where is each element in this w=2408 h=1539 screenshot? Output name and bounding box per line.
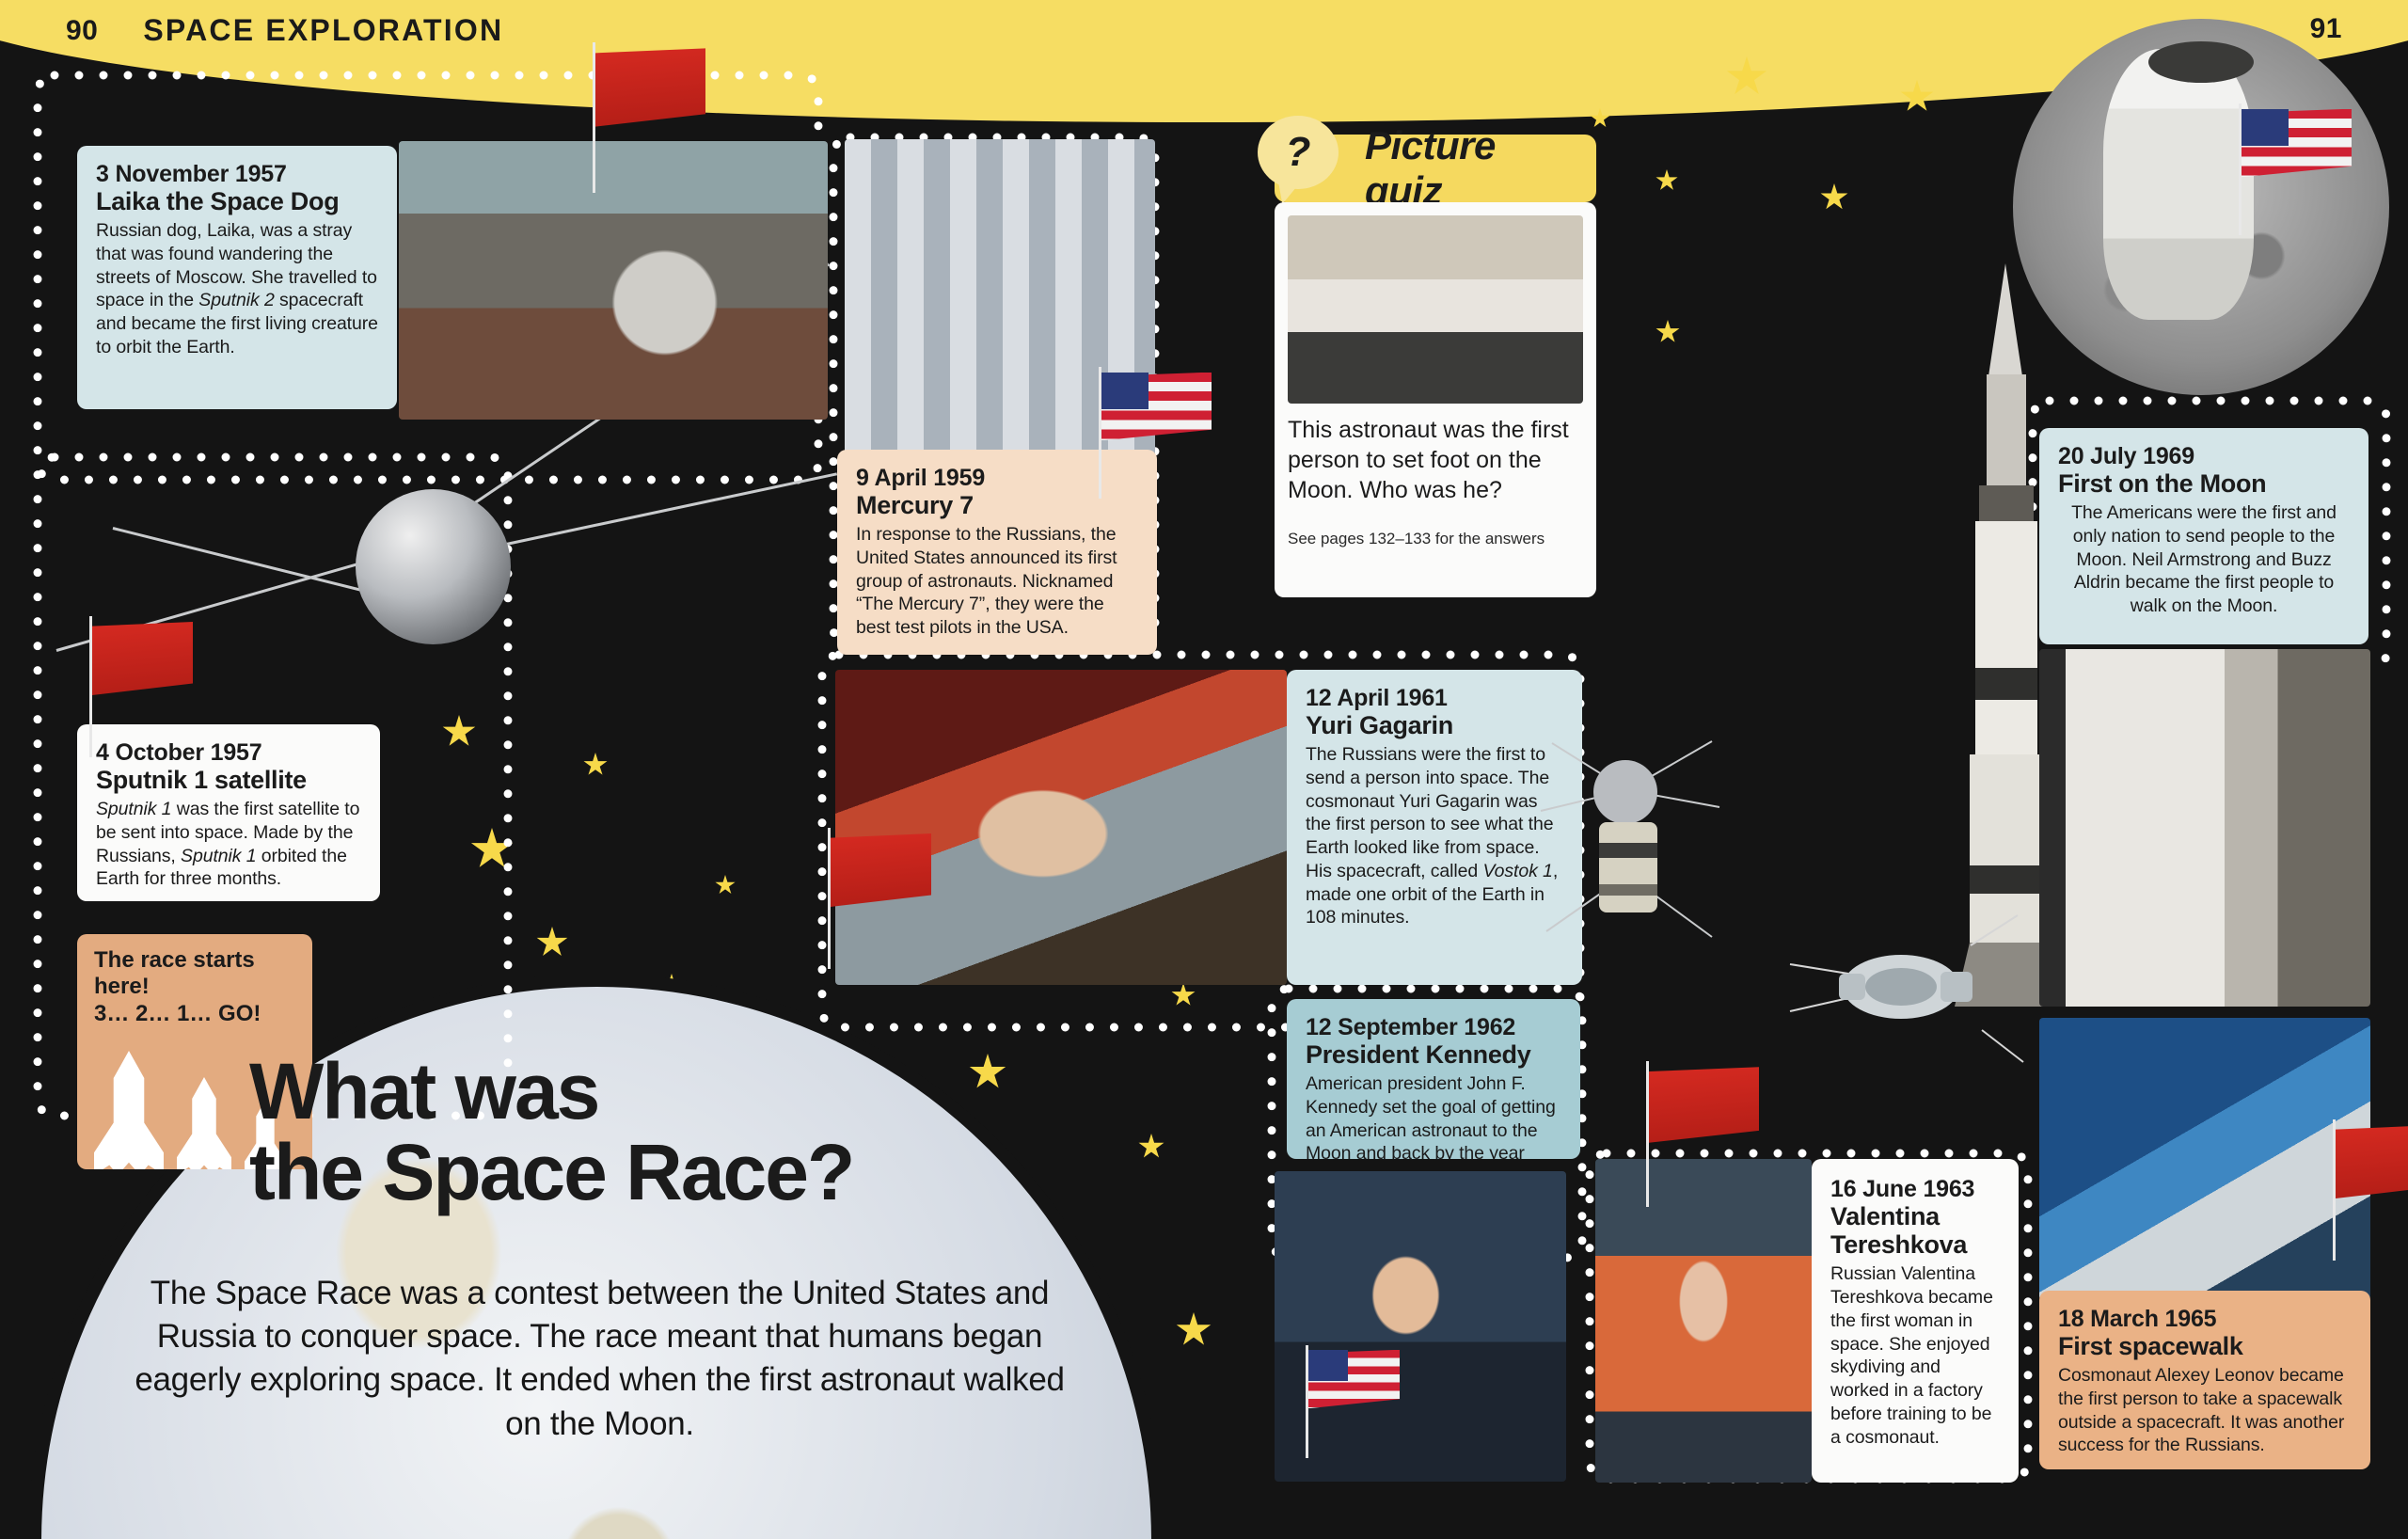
question-mark-glyph: ?: [1286, 129, 1311, 176]
flag-pole: [593, 42, 595, 193]
soviet-flag-cloth: [831, 833, 931, 907]
star-decoration: [969, 1054, 1006, 1091]
soviet-flag-cloth: [1649, 1067, 1759, 1143]
picture-quiz-title: Picture quiz: [1365, 123, 1576, 214]
astronaut-figure: [2103, 49, 2254, 320]
card-laika: 3 November 1957 Laika the Space Dog Russ…: [77, 146, 397, 409]
page-title-line-1: What was: [249, 1052, 853, 1133]
tereshkova-portrait-photo: [1595, 1159, 1812, 1483]
picture-quiz-card: This astronaut was the first person to s…: [1275, 202, 1596, 597]
us-flag-canton: [2242, 109, 2289, 146]
lead-paragraph: The Space Race was a contest between the…: [113, 1272, 1086, 1446]
card-body: Russian dog, Laika, was a stray that was…: [96, 219, 378, 359]
astronaut-visor: [2148, 41, 2254, 83]
rocket-icon: [94, 1051, 164, 1169]
launch-pad-photo: [2039, 649, 2370, 1007]
picture-quiz-question: This astronaut was the first person to s…: [1288, 415, 1583, 505]
card-date: 9 April 1959: [856, 465, 1138, 491]
soviet-flag-cloth: [92, 622, 193, 695]
star-decoration: [583, 753, 608, 777]
card-date: 12 April 1961: [1306, 685, 1563, 711]
card-date: 18 March 1965: [2058, 1306, 2352, 1332]
race-line-1: The race starts here!: [94, 947, 295, 1001]
card-title: Sputnik 1 satellite: [96, 766, 361, 794]
sputnik-satellite-illustration: [356, 489, 511, 644]
card-date: 3 November 1957: [96, 161, 378, 187]
us-flag-kennedy: [1306, 1345, 1400, 1458]
card-moonlanding: 20 July 1969 First on the Moon The Ameri…: [2039, 428, 2368, 644]
soviet-flag-spacewalk: [2333, 1119, 2408, 1261]
card-title: President Kennedy: [1306, 1040, 1561, 1069]
card-title: First spacewalk: [2058, 1332, 2352, 1360]
card-body: In response to the Russians, the United …: [856, 523, 1138, 640]
flag-pole: [2333, 1119, 2336, 1261]
soviet-flag-cloth: [2336, 1125, 2408, 1198]
picture-quiz-answer-reference: See pages 132–133 for the answers: [1288, 530, 1583, 548]
card-body: Russian Valentina Tereshkova became the …: [1830, 1262, 2000, 1449]
card-body: Sputnik 1 was the first satellite to be …: [96, 798, 361, 891]
card-body: The Americans were the first and only na…: [2058, 501, 2350, 618]
soviet-flag-left: [89, 616, 193, 757]
vostok-capsule-illustration: [1524, 724, 1731, 969]
soviet-flag-kennedy: [1646, 1061, 1759, 1207]
card-tereshkova: 16 June 1963 Valentina Tereshkova Russia…: [1812, 1159, 2019, 1483]
star-decoration: [470, 828, 514, 871]
italic-term: Sputnik 1: [96, 799, 171, 819]
flag-pole: [828, 828, 831, 969]
card-date: 16 June 1963: [1830, 1176, 2000, 1202]
page-number-right: 91: [2310, 13, 2342, 45]
us-flag-canton: [1101, 373, 1149, 409]
card-title: Valentina Tereshkova: [1830, 1202, 2000, 1259]
card-spacewalk: 18 March 1965 First spacewalk Cosmonaut …: [2039, 1291, 2370, 1469]
star-decoration: [1655, 320, 1680, 344]
card-title: First on the Moon: [2058, 469, 2350, 498]
race-line-2: 3… 2… 1… GO!: [94, 1001, 295, 1027]
star-decoration: [1176, 1312, 1212, 1348]
card-title: Mercury 7: [856, 491, 1138, 519]
header-right: 91: [2310, 13, 2342, 45]
card-date: 12 September 1962: [1306, 1014, 1561, 1040]
soviet-flag-cloth: [595, 48, 705, 126]
us-flag-mercury: [1099, 367, 1212, 499]
page-title-line-2: the Space Race?: [249, 1133, 853, 1214]
soviet-flag-top: [593, 42, 705, 193]
card-kennedy: 12 September 1962 President Kennedy Amer…: [1287, 999, 1580, 1159]
card-body: Cosmonaut Alexey Leonov became the first…: [2058, 1364, 2352, 1457]
question-mark-bubble-icon: ?: [1258, 116, 1339, 189]
star-decoration: [1138, 1134, 1164, 1160]
book-spread: 90 SPACE EXPLORATION 91: [0, 0, 2408, 1539]
leonov-spacewalk-photo: [2039, 1018, 2370, 1300]
header-left: 90 SPACE EXPLORATION: [66, 13, 503, 48]
star-decoration: [1171, 983, 1196, 1007]
quiz-astronaut-photo: [1288, 215, 1583, 404]
soyuz-craft-illustration: [1782, 908, 2027, 1077]
card-title: Laika the Space Dog: [96, 187, 378, 215]
star-decoration: [442, 715, 476, 749]
soviet-flag-gagarin: [828, 828, 931, 969]
us-flag-moon: [2239, 103, 2352, 235]
picture-quiz-header: ? Picture quiz: [1275, 135, 1596, 202]
star-decoration: [1820, 183, 1848, 212]
star-decoration: [536, 927, 568, 959]
card-date: 20 July 1969: [2058, 443, 2350, 469]
flag-pole: [89, 616, 92, 757]
page-title: What was the Space Race?: [249, 1052, 853, 1213]
star-decoration: [1655, 169, 1678, 192]
chapter-title: SPACE EXPLORATION: [143, 13, 503, 48]
italic-term: Sputnik 2: [198, 290, 274, 310]
star-decoration: [715, 875, 736, 896]
italic-term: Sputnik 1: [181, 846, 256, 866]
flag-pole: [1646, 1061, 1649, 1207]
us-flag-canton: [1308, 1350, 1348, 1382]
rocket-icon: [177, 1077, 231, 1169]
page-number-left: 90: [66, 15, 98, 47]
card-body: American president John F. Kennedy set t…: [1306, 1072, 1561, 1159]
